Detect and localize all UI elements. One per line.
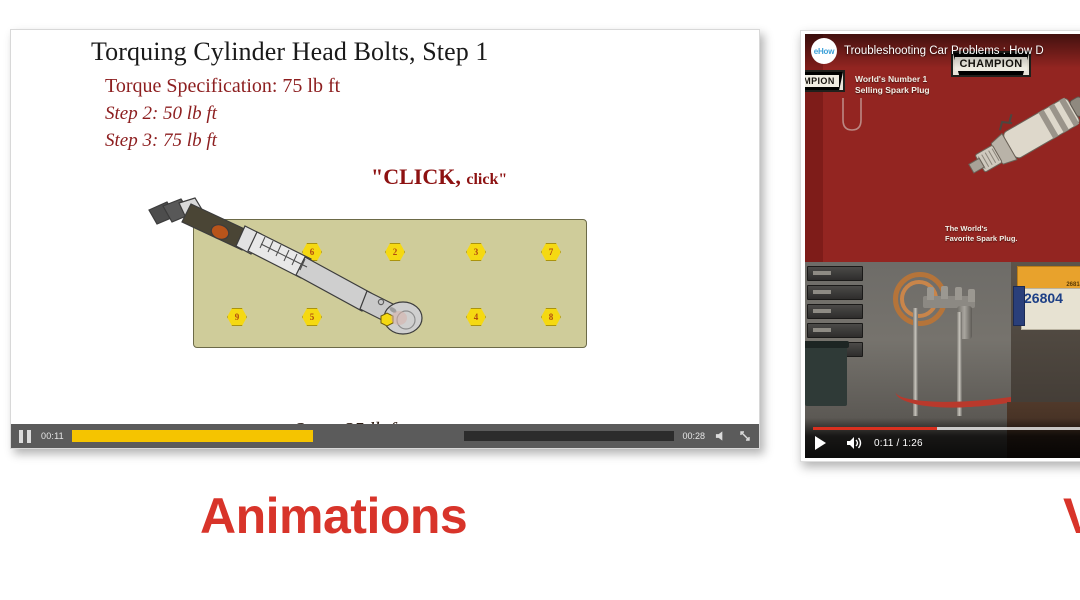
parts-box-orange: 26814 [1017,266,1080,290]
tagline-bottom-2: Favorite Spark Plug. [945,234,1018,244]
cabinet-bottom-tagline: The World's Favorite Spark Plug. [945,224,1018,244]
valve [941,286,948,299]
tool-drawer [807,266,863,281]
bolt-hex: 6 [302,243,322,261]
video-progress-fill [813,427,937,430]
bolt-hex: 7 [541,243,561,261]
seek-bar[interactable] [72,430,675,442]
page-title: Torquing Cylinder Head Bolts, Step 1 [91,37,489,67]
step-3-label: Step 3: 75 lb ft [105,130,217,152]
video-seek-bar[interactable] [813,427,1080,430]
valve [968,289,975,302]
video-control-group[interactable]: 0:11 / 1:26 [815,436,923,450]
buffer-segment [464,431,675,441]
tool-drawer [807,304,863,319]
slide-stage: Torquing Cylinder Head Bolts, Step 1 Tor… [0,0,1080,600]
bolt-hex: 1 [385,308,405,326]
caption-videos: V [1063,487,1080,545]
parts-box-blue [1013,286,1025,326]
red-cabinet: MPION World's Number 1 Selling Spark Plu… [805,34,1080,262]
click-small-text: click" [466,171,507,188]
video-time-display: 0:11 / 1:26 [874,438,923,449]
bolt-hex: 4 [466,308,486,326]
volume-icon[interactable] [846,436,862,450]
bolt-hex: 8 [541,308,561,326]
cabinet-tagline: World's Number 1 Selling Spark Plug [855,74,930,97]
animation-slide-canvas: Torquing Cylinder Head Bolts, Step 1 Tor… [11,30,759,426]
ehow-logo-icon[interactable]: eHow [811,38,837,64]
wall-hook-icon [839,98,865,134]
progress-fill [72,430,313,442]
video-controls-bar[interactable]: 0:11 / 1:26 [805,418,1080,458]
video-player[interactable]: MPION World's Number 1 Selling Spark Plu… [800,30,1080,462]
parts-box-white: 26804 [1021,288,1080,330]
video-title-bar: eHow Troubleshooting Car Problems : How … [805,34,1080,68]
pause-icon[interactable] [19,430,31,443]
bolt-hex: 9 [227,308,247,326]
tool-drawer [807,285,863,300]
play-icon[interactable] [815,436,826,450]
video-scene: MPION World's Number 1 Selling Spark Plu… [805,34,1080,458]
tagline-bottom-1: The World's [945,224,1018,234]
fullscreen-icon[interactable] [739,430,751,442]
total-time-label: 00:28 [682,431,705,441]
tagline-sub: Selling Spark Plug [855,85,930,96]
spark-plug-illustration [965,80,1080,200]
video-viewport[interactable]: MPION World's Number 1 Selling Spark Plu… [805,34,1080,458]
cylinder-head-plate: 6 2 3 7 9 5 1 4 8 [193,219,587,348]
animation-player[interactable]: Torquing Cylinder Head Bolts, Step 1 Tor… [10,29,760,449]
step-2-label: Step 2: 50 lb ft [105,103,217,125]
click-main-text: "CLICK, [371,164,461,189]
click-sound-label: "CLICK, click" [371,164,507,190]
trash-bin [805,346,847,406]
animation-player-controls[interactable]: 00:11 00:28 [11,424,759,448]
bolt-hex: 5 [302,308,322,326]
bolt-hex: 3 [466,243,486,261]
valve [927,287,934,300]
video-title[interactable]: Troubleshooting Car Problems : How D [844,45,1044,57]
current-time-label: 00:11 [41,431,64,441]
volume-icon[interactable] [715,430,726,442]
valve [955,287,962,300]
champion-sign-left: MPION [805,70,845,92]
tagline-main: World's Number 1 [855,74,930,85]
caption-animations: Animations [200,487,467,545]
bolt-hex: 2 [385,243,405,261]
torque-specification-label: Torque Specification: 75 lb ft [105,75,340,98]
tool-drawer [807,323,863,338]
